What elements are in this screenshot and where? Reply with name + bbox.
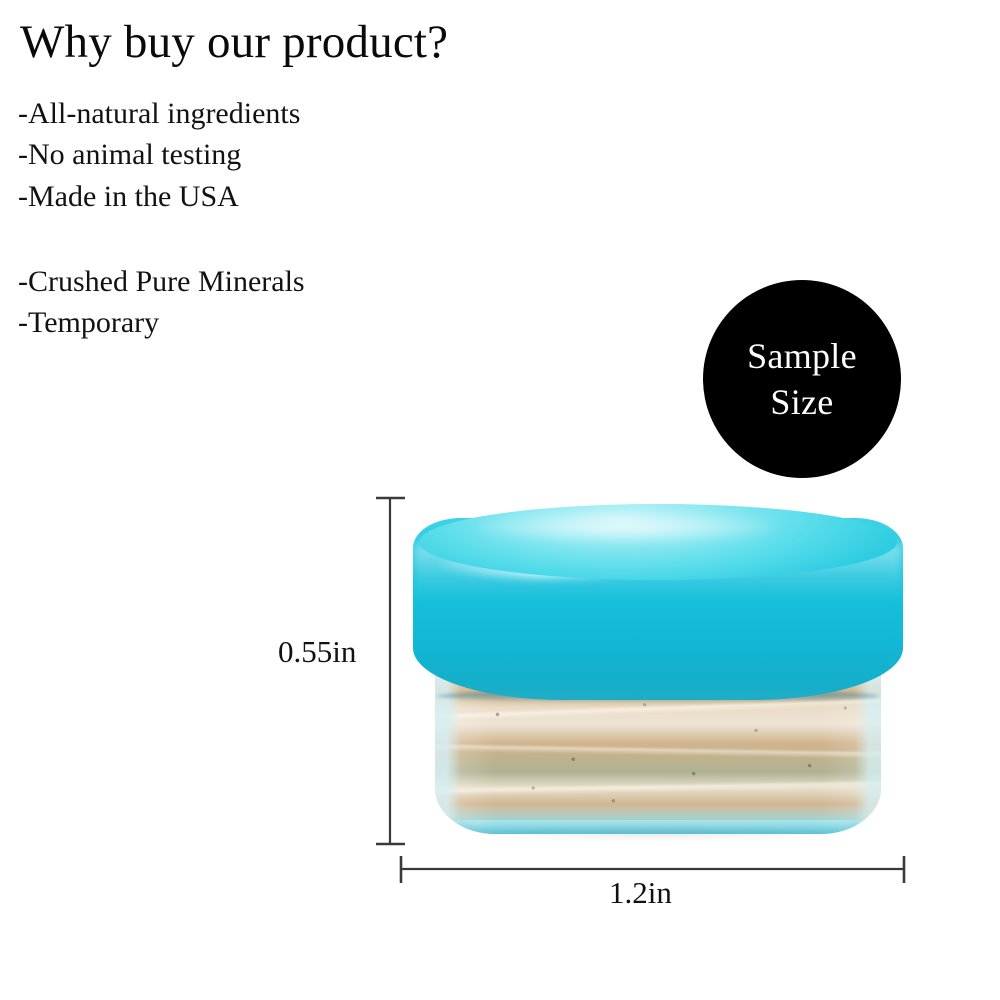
jar-lid-top-face: [419, 504, 897, 580]
product-jar-image: [413, 504, 903, 838]
badge-line-2: Size: [770, 379, 833, 425]
benefits-list-primary: -All-natural ingredients -No animal test…: [18, 93, 658, 216]
list-item: -Crushed Pure Minerals: [18, 261, 658, 302]
height-dimension-label: 0.55in: [278, 634, 356, 670]
marketing-copy-block: Why buy our product? -All-natural ingred…: [18, 18, 658, 343]
jar-contact-shadow: [469, 826, 847, 840]
jar-lid-top-sheen: [477, 512, 777, 542]
badge-line-1: Sample: [747, 333, 857, 379]
sample-size-badge: Sample Size: [703, 280, 901, 478]
benefits-list-secondary: -Crushed Pure Minerals -Temporary: [18, 261, 658, 343]
height-dimension-line: [372, 492, 408, 850]
list-item: -Made in the USA: [18, 176, 658, 217]
page-title: Why buy our product?: [20, 18, 658, 67]
jar-lid-shading: [413, 648, 903, 700]
list-item: -Temporary: [18, 302, 658, 343]
width-dimension-label: 1.2in: [609, 875, 672, 911]
list-item: -All-natural ingredients: [18, 93, 658, 134]
list-item: -No animal testing: [18, 134, 658, 175]
